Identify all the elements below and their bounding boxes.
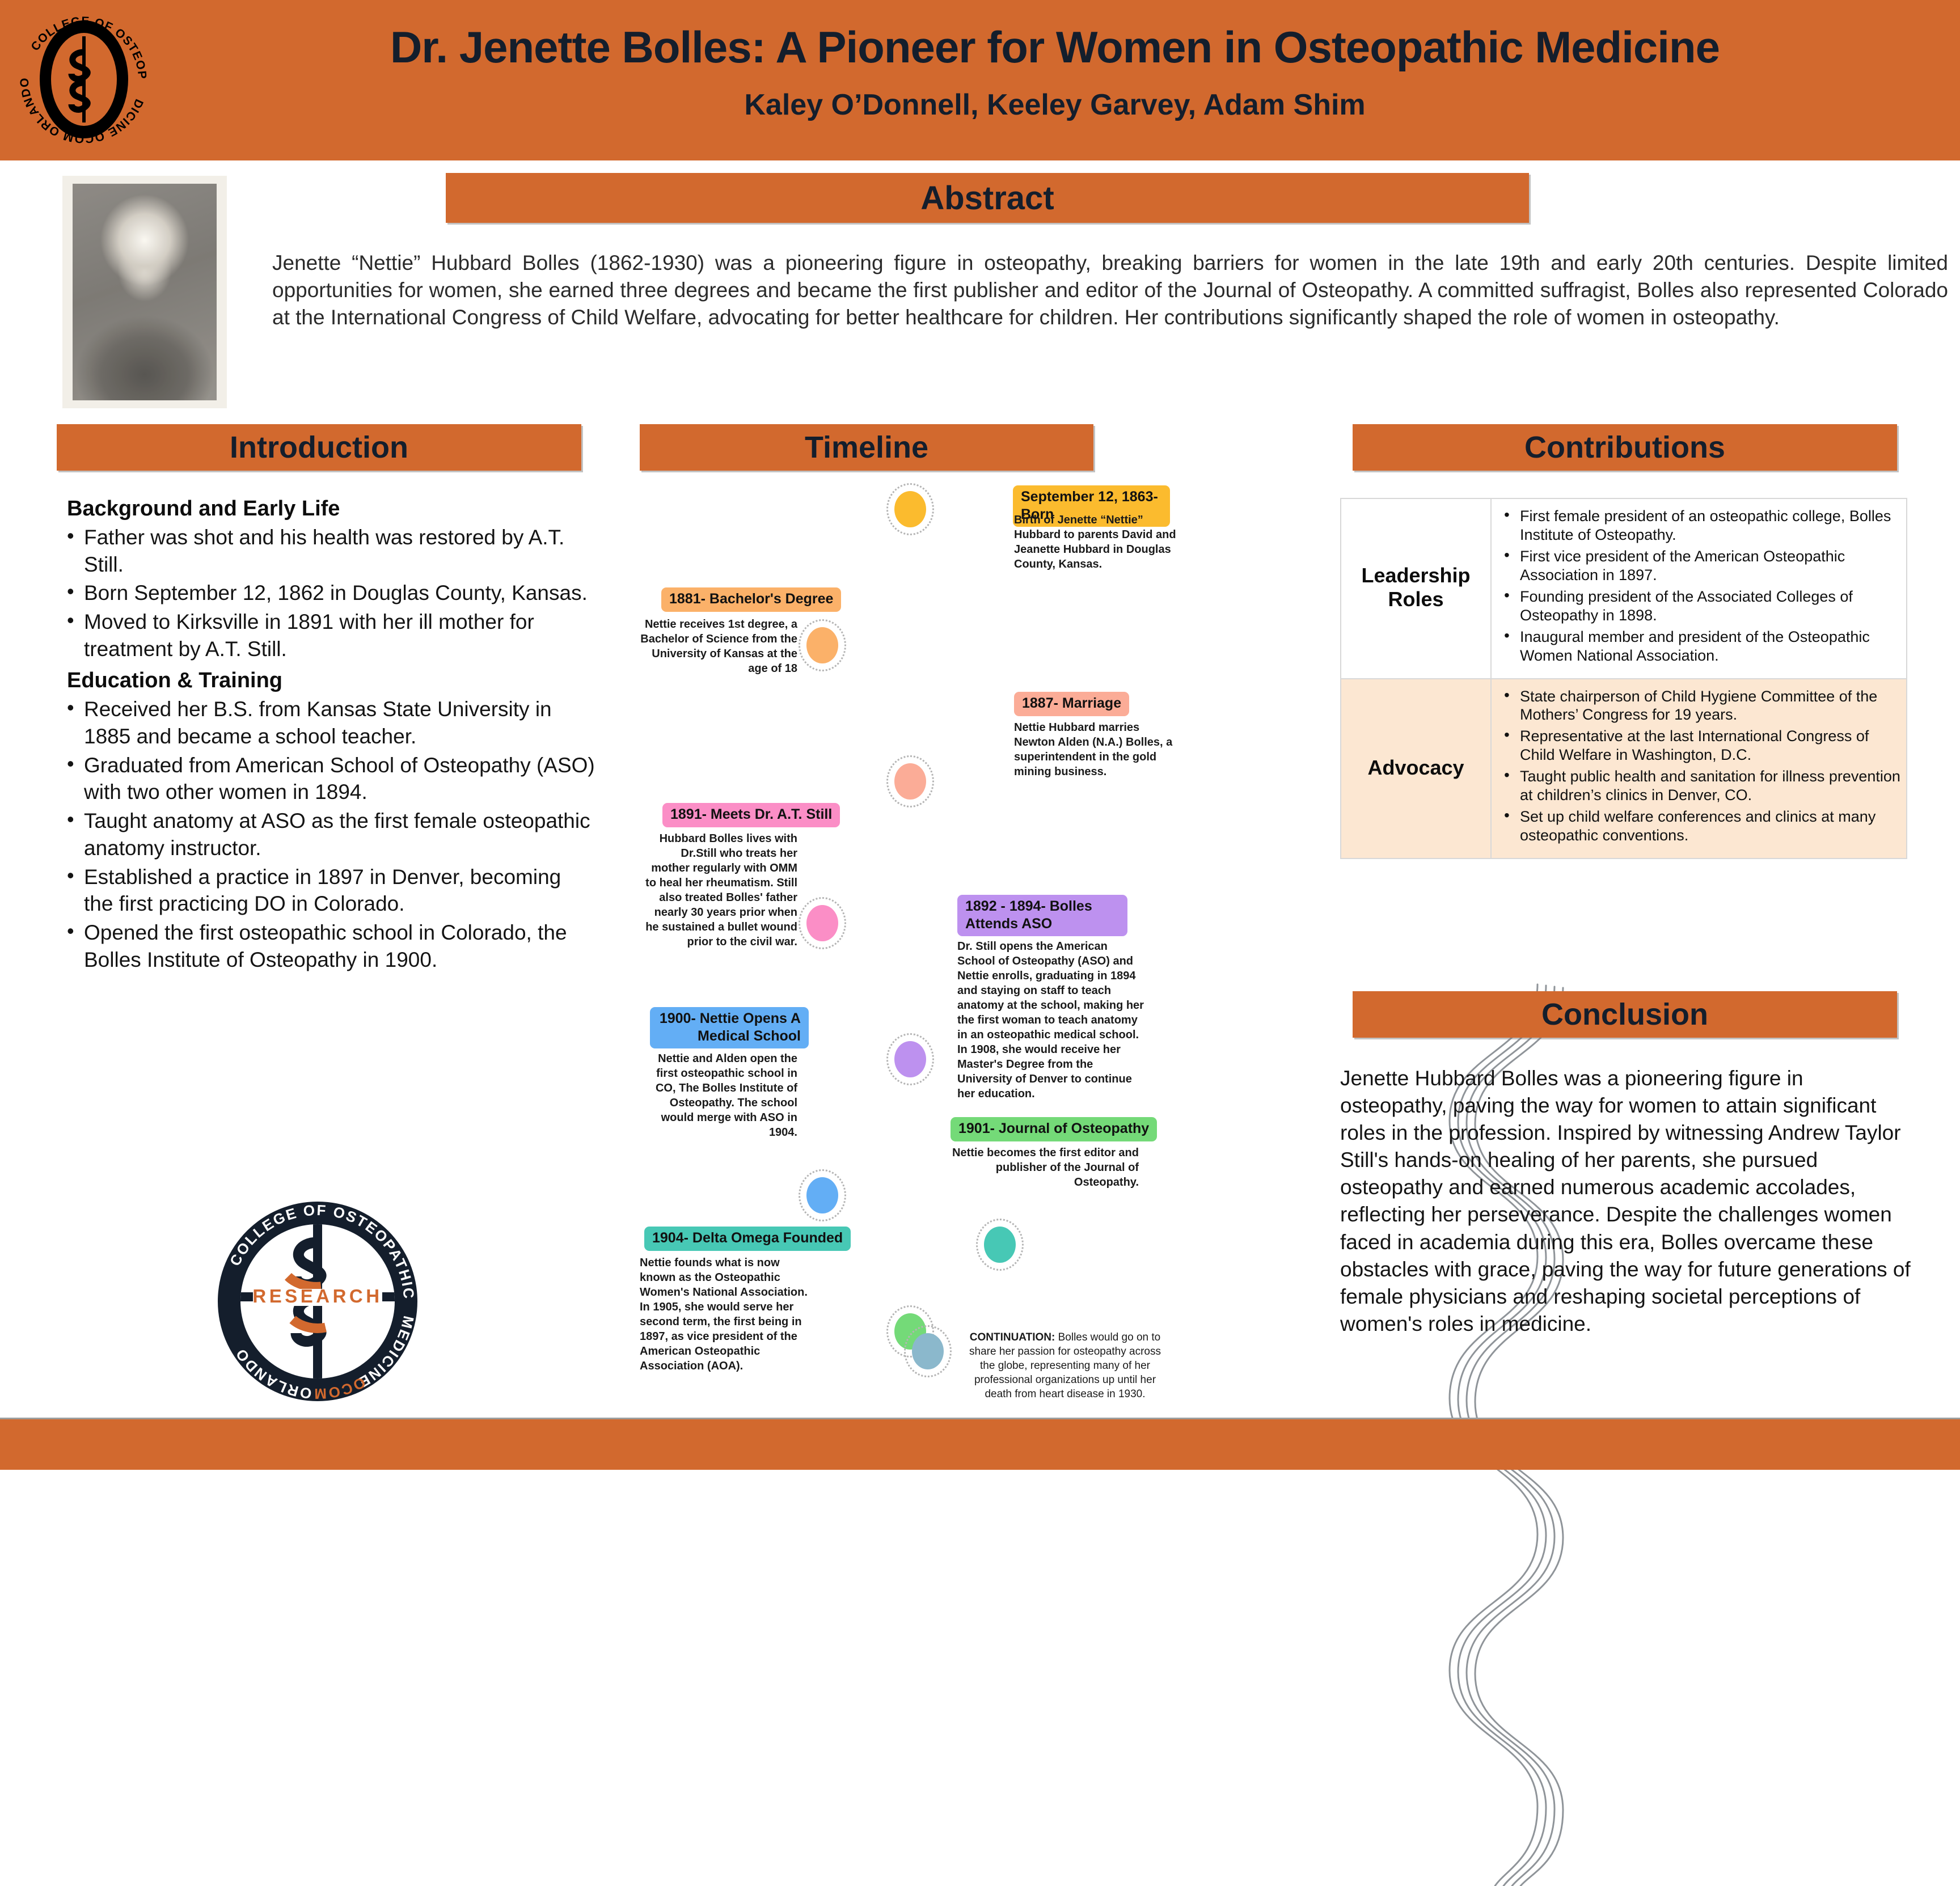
timeline-chip-3: 1887- Marriage (1014, 692, 1129, 716)
conclusion-section-heading: Conclusion (1353, 991, 1897, 1038)
timeline-desc-7: Nettie becomes the first editor and publ… (951, 1145, 1139, 1190)
timeline-node-1 (894, 491, 926, 527)
ocom-research-seal-icon: RESEARCH COLLEGE OF OSTEOPATHIC MEDICINE… (210, 1194, 425, 1409)
list-item: Graduated from American School of Osteop… (57, 752, 595, 806)
timeline-chip-2: 1881- Bachelor's Degree (661, 587, 841, 612)
abstract-section-heading: Abstract (446, 173, 1529, 223)
author-list: Kaley O’Donnell, Keeley Garvey, Adam Shi… (170, 88, 1940, 122)
contributions-section-heading: Contributions (1353, 424, 1897, 471)
list-item: State chairperson of Child Hygiene Commi… (1497, 687, 1900, 725)
timeline-desc-4: Hubbard Bolles lives with Dr.Still who t… (640, 831, 797, 949)
list-item: First vice president of the American Ost… (1497, 547, 1900, 585)
timeline-continuation-text: CONTINUATION: Bolles would go on to shar… (969, 1330, 1161, 1401)
list-item: Founding president of the Associated Col… (1497, 587, 1900, 625)
timeline-node-8 (984, 1227, 1016, 1263)
list-item: Born September 12, 1862 in Douglas Count… (57, 580, 595, 607)
list-item: Opened the first osteopathic school in C… (57, 919, 595, 973)
timeline-chip-6: 1900- Nettie Opens A Medical School (650, 1007, 809, 1048)
contributions-row-label-advocacy: Advocacy (1341, 679, 1491, 859)
list-item: Moved to Kirksville in 1891 with her ill… (57, 608, 595, 662)
table-row: Leadership Roles First female president … (1341, 498, 1907, 679)
portrait-image (73, 184, 217, 400)
timeline-chip-4: 1891- Meets Dr. A.T. Still (662, 803, 840, 827)
timeline-panel: September 12, 1863- Born Birth of Jenett… (640, 475, 1170, 1411)
timeline-chip-5: 1892 - 1894- Bolles Attends ASO (957, 895, 1127, 936)
timeline-node-6 (806, 1177, 838, 1213)
timeline-node-4 (806, 905, 838, 941)
intro-subheading-background: Background and Early Life (67, 496, 595, 522)
list-item: Taught anatomy at ASO as the first femal… (57, 807, 595, 861)
timeline-desc-2: Nettie receives 1st degree, a Bachelor o… (640, 617, 797, 676)
list-item: Taught public health and sanitation for … (1497, 767, 1900, 805)
timeline-node-continuation (912, 1333, 944, 1369)
timeline-desc-3: Nettie Hubbard marries Newton Alden (N.A… (1014, 720, 1178, 779)
research-wordmark: RESEARCH (252, 1285, 382, 1306)
page-title: Dr. Jenette Bolles: A Pioneer for Women … (170, 22, 1940, 73)
timeline-node-5 (894, 1041, 926, 1077)
timeline-node-2 (806, 627, 838, 663)
timeline-chip-8: 1904- Delta Omega Founded (644, 1227, 851, 1251)
list-item: Inaugural member and president of the Os… (1497, 628, 1900, 665)
poster-footer-bar (0, 1418, 1960, 1470)
timeline-desc-6: Nettie and Alden open the first osteopat… (640, 1051, 797, 1140)
timeline-desc-1: Birth of Jenette “Nettie” Hubbard to par… (1014, 513, 1184, 572)
intro-bullet-list-education: Received her B.S. from Kansas State Univ… (57, 696, 595, 973)
list-item: Set up child welfare conferences and cli… (1497, 807, 1900, 845)
contributions-row-label-leadership: Leadership Roles (1341, 498, 1491, 679)
intro-subheading-education: Education & Training (67, 668, 595, 693)
contributions-table: Leadership Roles First female president … (1340, 498, 1907, 859)
list-item: Representative at the last International… (1497, 727, 1900, 764)
intro-bullet-list-background: Father was shot and his health was resto… (57, 524, 595, 663)
abstract-body-text: Jenette “Nettie” Hubbard Bolles (1862-19… (272, 250, 1948, 331)
continuation-label: CONTINUATION: (970, 1331, 1055, 1343)
timeline-chip-7: 1901- Journal of Osteopathy (951, 1117, 1157, 1141)
list-item: Father was shot and his health was resto… (57, 524, 595, 578)
timeline-desc-5: Dr. Still opens the American School of O… (957, 939, 1144, 1101)
conclusion-body-text: Jenette Hubbard Bolles was a pioneering … (1340, 1065, 1913, 1338)
list-item: First female president of an osteopathic… (1497, 507, 1900, 544)
contributions-row-items-leadership: First female president of an osteopathic… (1491, 498, 1907, 679)
timeline-desc-8: Nettie founds what is now known as the O… (640, 1255, 816, 1373)
list-item: Established a practice in 1897 in Denver… (57, 864, 595, 917)
timeline-section-heading: Timeline (640, 424, 1093, 471)
ocom-seal-icon: COLLEGE OF OSTEOPATHIC ME DICINE OCOM OR… (8, 3, 160, 155)
list-item: Received her B.S. from Kansas State Univ… (57, 696, 595, 750)
timeline-node-3 (894, 763, 926, 800)
contributions-row-items-advocacy: State chairperson of Child Hygiene Commi… (1491, 679, 1907, 859)
table-row: Advocacy State chairperson of Child Hygi… (1341, 679, 1907, 859)
introduction-body: Background and Early Life Father was sho… (57, 496, 595, 979)
introduction-section-heading: Introduction (57, 424, 581, 471)
bolles-portrait-photo (62, 176, 227, 408)
